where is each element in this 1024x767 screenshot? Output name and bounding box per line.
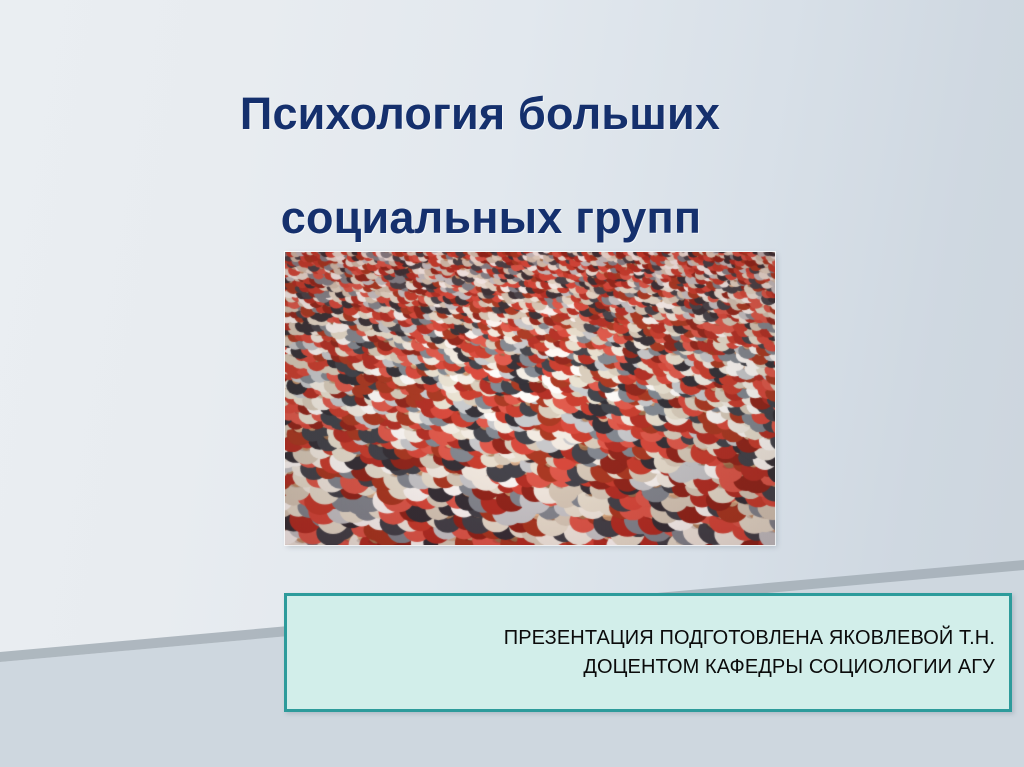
author-credit-box: ПРЕЗЕНТАЦИЯ ПОДГОТОВЛЕНА ЯКОВЛЕВОЙ Т.Н. … [284,593,1012,712]
page-title: Психология больших социальных групп [0,62,1024,270]
author-credit-line-1: ПРЕЗЕНТАЦИЯ ПОДГОТОВЛЕНА ЯКОВЛЕВОЙ Т.Н. [504,624,995,653]
title-line-1: Психология больших [0,62,1024,166]
presentation-slide: Психология больших социальных групп ПРЕЗ… [0,0,1024,767]
author-credit-line-2: ДОЦЕНТОМ КАФЕДРЫ СОЦИОЛОГИИ АГУ [583,653,995,682]
crowd-photo-canvas [285,252,775,545]
crowd-photo [285,252,775,545]
